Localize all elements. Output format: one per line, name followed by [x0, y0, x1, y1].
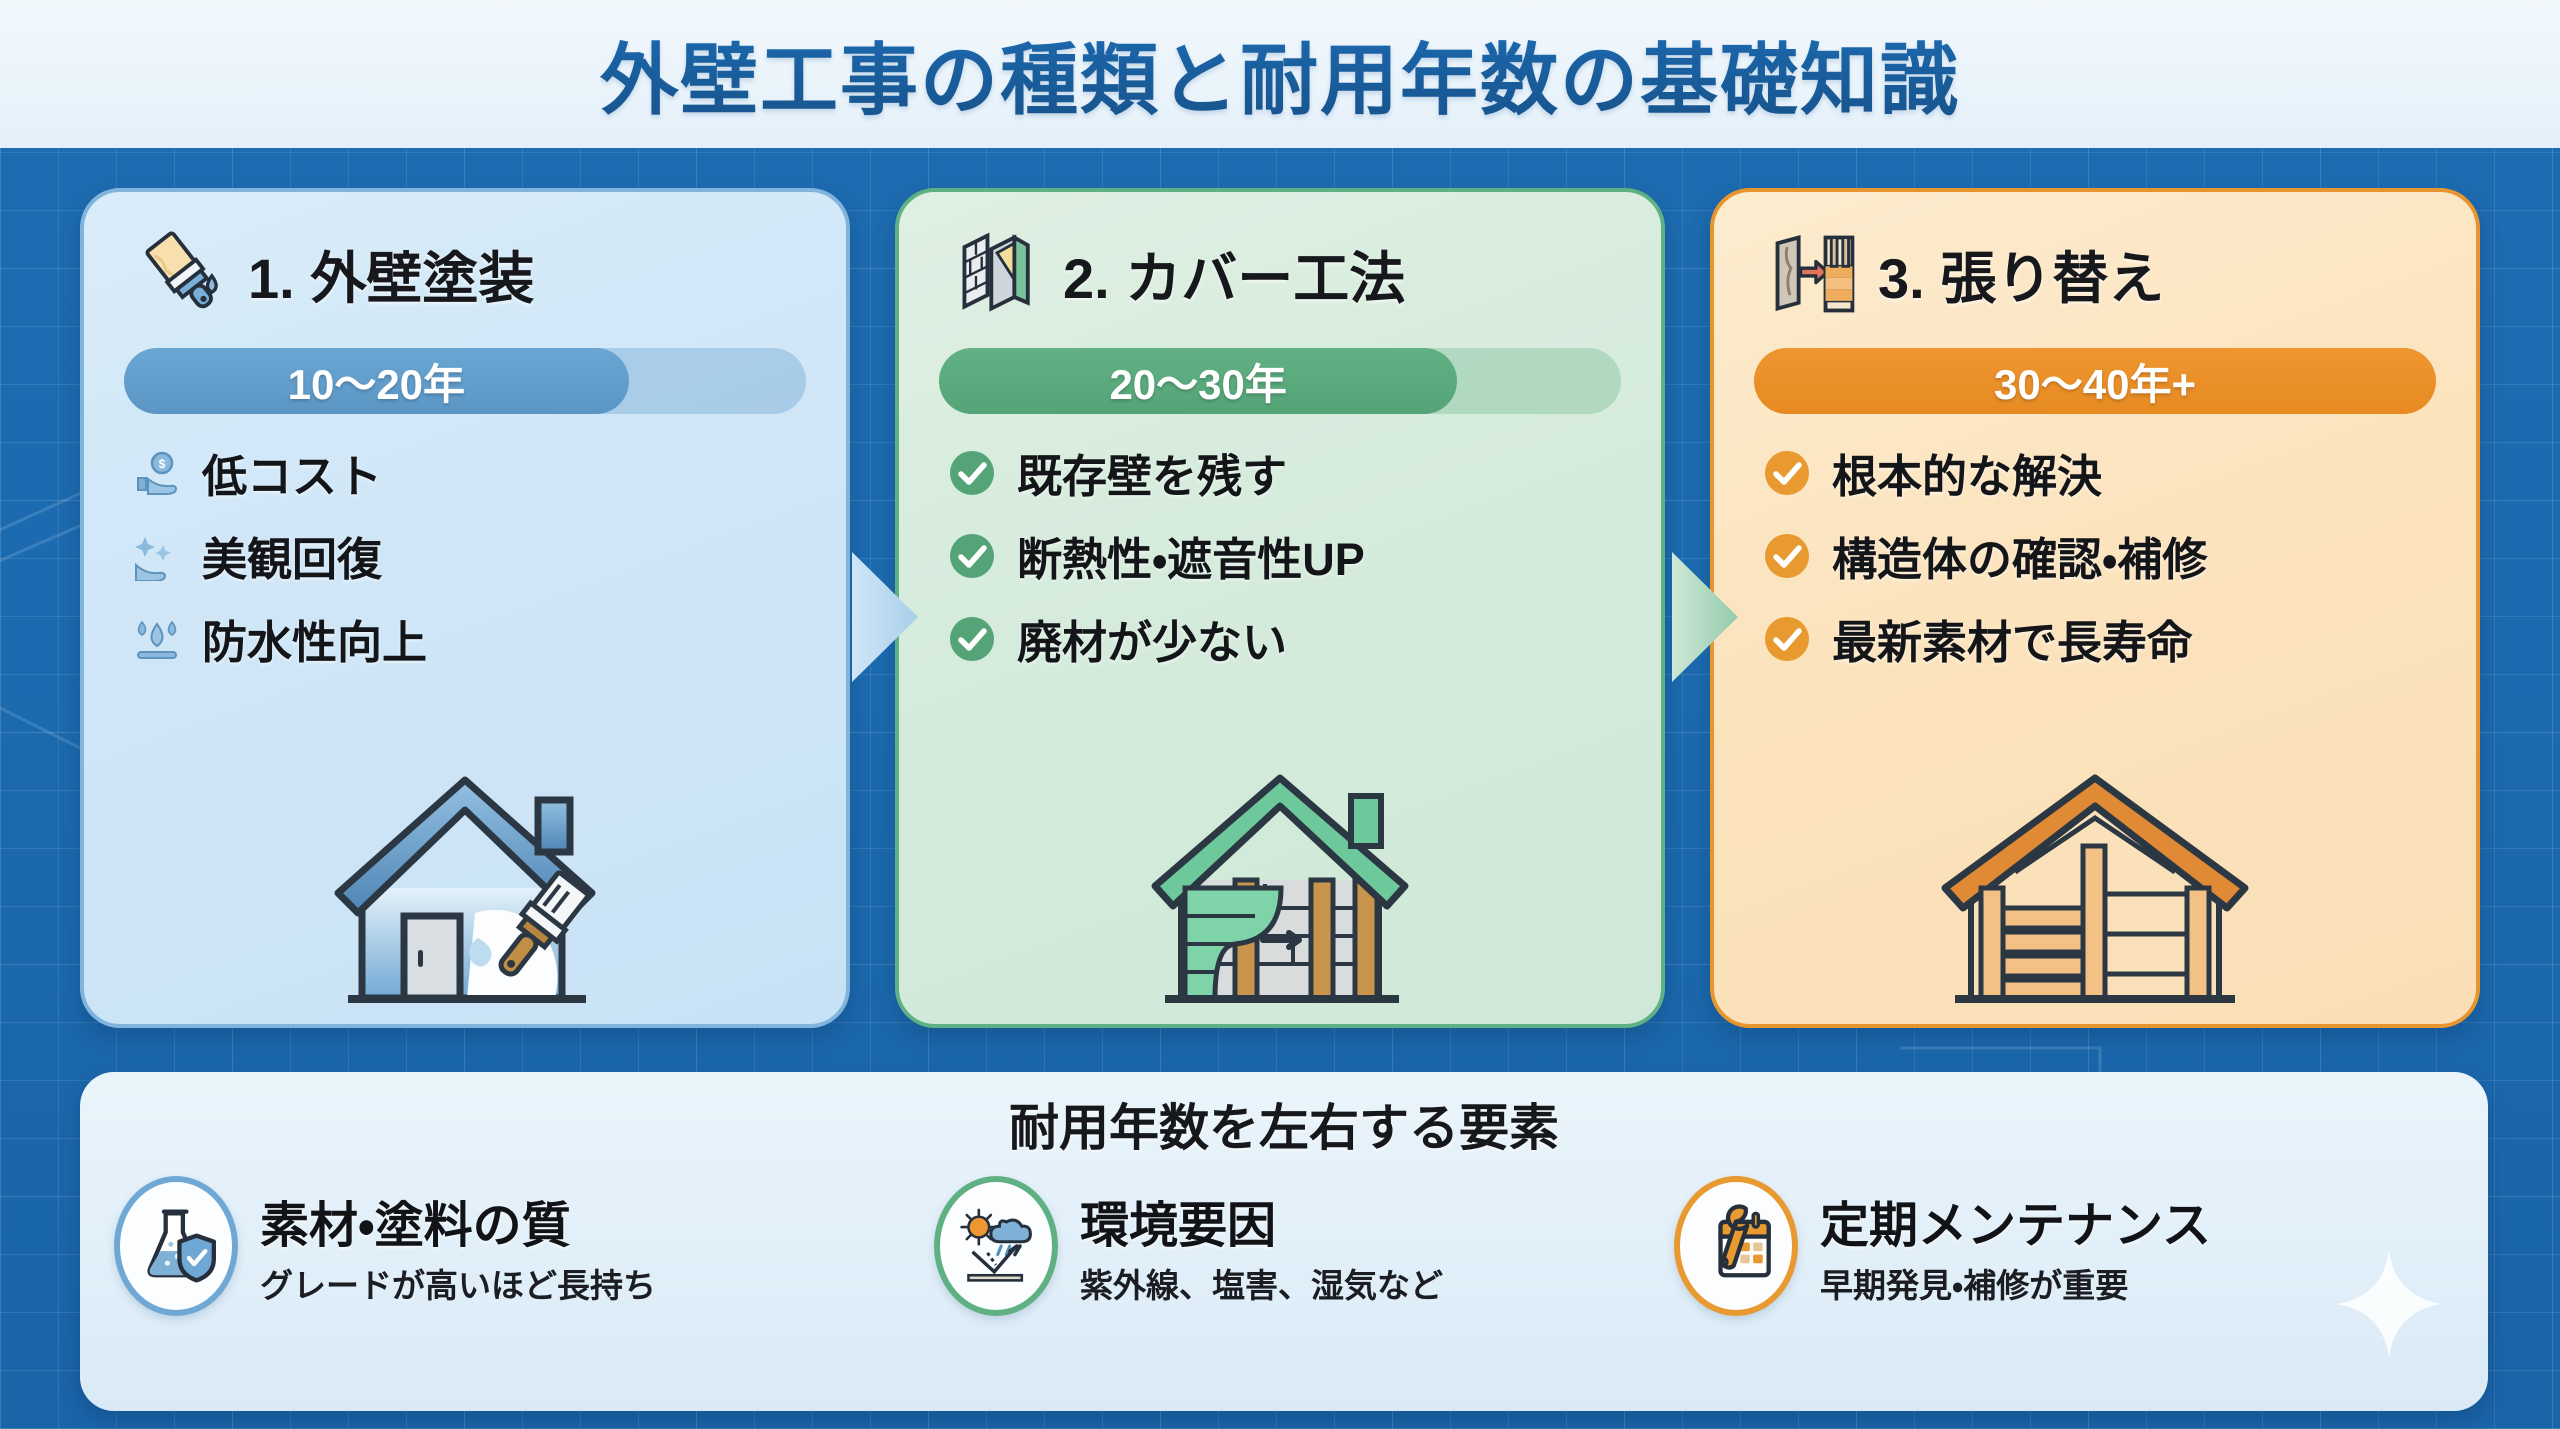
list-item-label: 美観回復	[202, 523, 382, 588]
card-title: 1. 外壁塗装	[248, 234, 534, 315]
factor-material-quality[interactable]: 素材・塗料の質 グレードが高いほど長持ち	[114, 1176, 894, 1316]
list-item-label: 最新素材で長寿命	[1832, 606, 2192, 671]
method-cards-row: 1. 外壁塗装 10〜20年 $ 低コスト	[0, 188, 2560, 1028]
factors-list: 素材・塗料の質 グレードが高いほど長持ち	[80, 1176, 2488, 1316]
infographic-root: 外壁工事の種類と耐用年数の基礎知識	[0, 0, 2560, 1429]
factor-subtitle: グレードが高いほど長持ち	[260, 1259, 656, 1307]
wall-replacement-arrow-icon	[1766, 226, 1862, 322]
water-droplets-icon	[132, 614, 182, 664]
card-feature-list: 根本的な解決 構造体の確認・補修 最新素材で長寿命	[1748, 440, 2442, 671]
list-item-label: 防水性向上	[202, 606, 427, 671]
list-item: 既存壁を残す	[947, 440, 1627, 505]
connector-chevron-1	[852, 552, 918, 682]
list-item-label: 構造体の確認・補修	[1832, 523, 2207, 588]
list-item-label: 既存壁を残す	[1017, 440, 1287, 505]
card-feature-list: 既存壁を残す 断熱性・遮音性UP 廃材が少ない	[933, 440, 1627, 671]
lifespan-badge-track: 10〜20年	[124, 348, 806, 414]
list-item: 最新素材で長寿命	[1762, 606, 2442, 671]
factor-title: 素材・塗料の質	[260, 1186, 656, 1257]
list-item: $ 低コスト	[132, 440, 812, 505]
card-header: 1. 外壁塗装	[118, 218, 812, 330]
factors-panel: 耐用年数を左右する要素 素材・塗料の質 グレードが高いほど長持ち	[80, 1072, 2488, 1411]
check-circle-icon	[1762, 448, 1812, 498]
card-exterior-painting[interactable]: 1. 外壁塗装 10〜20年 $ 低コスト	[80, 188, 850, 1028]
factor-maintenance[interactable]: 定期メンテナンス 早期発見・補修が重要	[1674, 1176, 2454, 1316]
list-item: 廃材が少ない	[947, 606, 1627, 671]
house-with-overlay-siding-illustration	[1115, 738, 1445, 1018]
list-item-label: 低コスト	[202, 440, 382, 505]
list-item-label: 根本的な解決	[1832, 440, 2102, 505]
factor-title: 定期メンテナンス	[1820, 1186, 2211, 1257]
factor-environment[interactable]: 環境要因 紫外線、塩害、湿気など	[934, 1176, 1634, 1316]
page-title: 外壁工事の種類と耐用年数の基礎知識	[600, 18, 1960, 130]
list-item: 構造体の確認・補修	[1762, 523, 2442, 588]
list-item-label: 断熱性・遮音性UP	[1017, 523, 1365, 588]
list-item-label: 廃材が少ない	[1017, 606, 1287, 671]
check-circle-icon	[1762, 614, 1812, 664]
lifespan-badge-track: 20〜30年	[939, 348, 1621, 414]
check-circle-icon	[947, 531, 997, 581]
house-frame-with-new-siding-illustration	[1915, 738, 2275, 1018]
card-replacement[interactable]: 3. 張り替え 30〜40年+ 根本的な解決 構造体の確認・補修	[1710, 188, 2480, 1028]
check-circle-icon	[947, 614, 997, 664]
wall-layers-icon	[951, 226, 1047, 322]
factor-text: 素材・塗料の質 グレードが高いほど長持ち	[260, 1186, 656, 1307]
card-title: 2. カバー工法	[1063, 234, 1405, 315]
sun-rain-weather-icon	[934, 1176, 1058, 1316]
factors-panel-title: 耐用年数を左右する要素	[80, 1088, 2488, 1160]
card-header: 2. カバー工法	[933, 218, 1627, 330]
chevron-right-icon	[1672, 552, 1738, 682]
card-header: 3. 張り替え	[1748, 218, 2442, 330]
list-item: 根本的な解決	[1762, 440, 2442, 505]
factor-title: 環境要因	[1080, 1186, 1443, 1257]
check-circle-icon	[1762, 531, 1812, 581]
hand-sparkle-icon	[132, 531, 182, 581]
factor-text: 定期メンテナンス 早期発見・補修が重要	[1820, 1186, 2211, 1307]
hand-coin-icon: $	[132, 448, 182, 498]
flask-shield-icon	[114, 1176, 238, 1316]
title-container: 外壁工事の種類と耐用年数の基礎知識	[0, 18, 2560, 130]
list-item: 美観回復	[132, 523, 812, 588]
card-cover-method[interactable]: 2. カバー工法 20〜30年 既存壁を残す 断熱性・遮音性UP	[895, 188, 1665, 1028]
paint-brush-icon	[136, 226, 232, 322]
connector-chevron-2	[1672, 552, 1738, 682]
list-item: 断熱性・遮音性UP	[947, 523, 1627, 588]
lifespan-badge: 30〜40年+	[1754, 348, 2436, 414]
wrench-calendar-icon	[1674, 1176, 1798, 1316]
card-title: 3. 張り替え	[1878, 234, 2164, 315]
factor-text: 環境要因 紫外線、塩害、湿気など	[1080, 1186, 1443, 1307]
list-item: 防水性向上	[132, 606, 812, 671]
lifespan-badge: 20〜30年	[939, 348, 1457, 414]
house-with-paintbrush-illustration	[300, 738, 630, 1018]
lifespan-badge-track: 30〜40年+	[1754, 348, 2436, 414]
card-feature-list: $ 低コスト 美観回復	[118, 440, 812, 671]
chevron-right-icon	[852, 552, 918, 682]
svg-text:$: $	[159, 457, 166, 471]
factor-subtitle: 早期発見・補修が重要	[1820, 1259, 2211, 1307]
check-circle-icon	[947, 448, 997, 498]
factor-subtitle: 紫外線、塩害、湿気など	[1080, 1259, 1443, 1307]
lifespan-badge: 10〜20年	[124, 348, 629, 414]
